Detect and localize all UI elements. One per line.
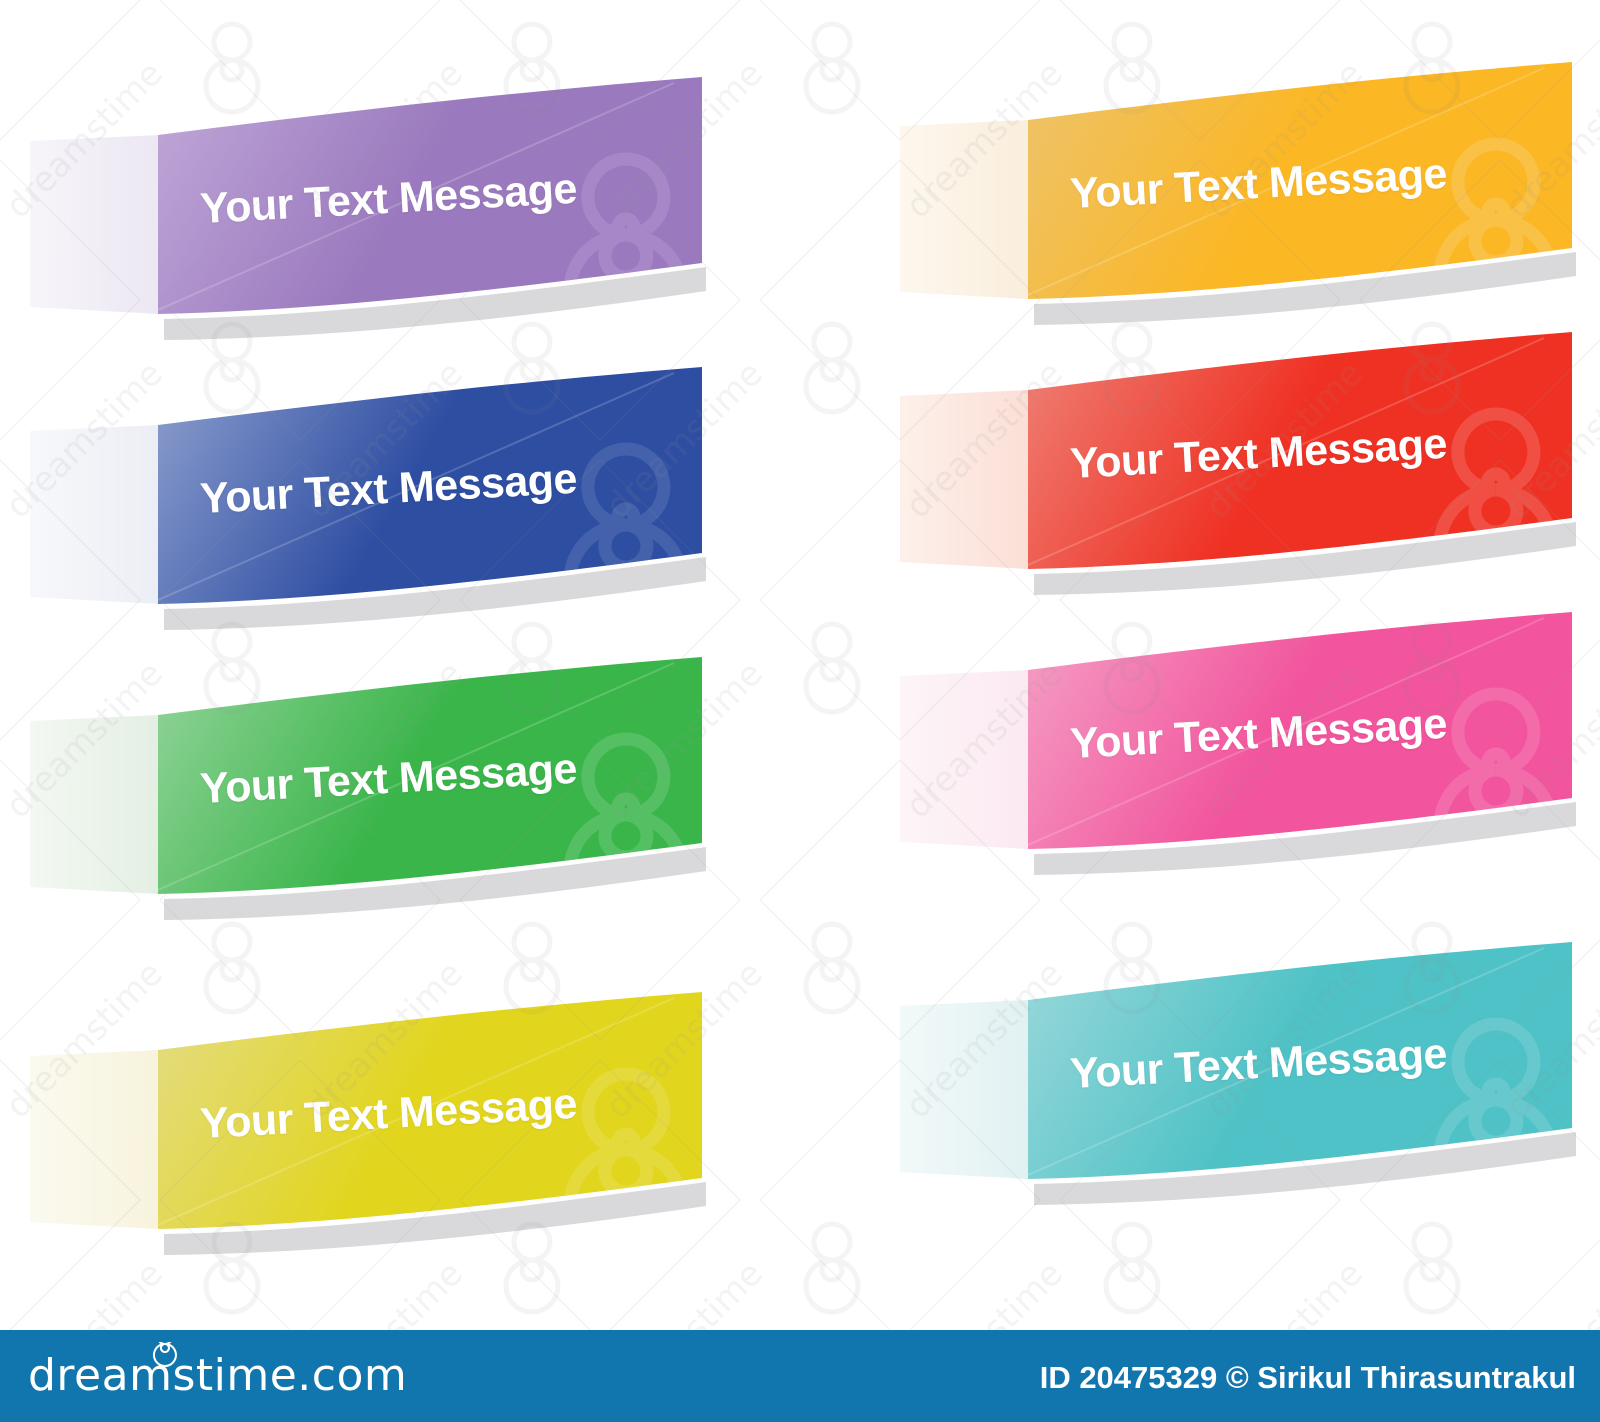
image-canvas: Your Text MessageYour Text MessageYour T… [0, 0, 1600, 1422]
sticker-tab [30, 135, 158, 314]
sticker-shape-blue [30, 385, 730, 645]
sticker-blue[interactable]: Your Text Message [30, 385, 710, 635]
sticker-shape-orange [900, 80, 1600, 340]
sticker-tab [900, 1000, 1028, 1179]
sticker-shape-purple [30, 95, 730, 355]
sticker-tab [900, 120, 1028, 299]
sticker-shape-green [30, 675, 730, 935]
spiral-icon [152, 1342, 178, 1368]
dreamstime-logo-text: dreamstime.com [28, 1350, 407, 1401]
sticker-red[interactable]: Your Text Message [900, 350, 1580, 600]
sticker-orange[interactable]: Your Text Message [900, 80, 1580, 330]
sticker-shape-teal [900, 960, 1600, 1220]
sticker-pink[interactable]: Your Text Message [900, 630, 1580, 880]
sticker-teal[interactable]: Your Text Message [900, 960, 1580, 1210]
sticker-tab [900, 670, 1028, 849]
sticker-shape-red [900, 350, 1600, 610]
sticker-tab [30, 425, 158, 604]
sticker-tab [30, 1050, 158, 1229]
sticker-shape-yellow [30, 1010, 730, 1270]
sticker-shape-pink [900, 630, 1600, 890]
sticker-tab [30, 715, 158, 894]
sticker-tab [900, 390, 1028, 569]
footer-bar: dreamstime.com ID 20475329 © Sirikul Thi… [0, 1330, 1600, 1422]
sticker-green[interactable]: Your Text Message [30, 675, 710, 925]
sticker-yellow[interactable]: Your Text Message [30, 1010, 710, 1260]
image-credit: ID 20475329 © Sirikul Thirasuntrakul [1040, 1360, 1576, 1396]
sticker-purple[interactable]: Your Text Message [30, 95, 710, 345]
